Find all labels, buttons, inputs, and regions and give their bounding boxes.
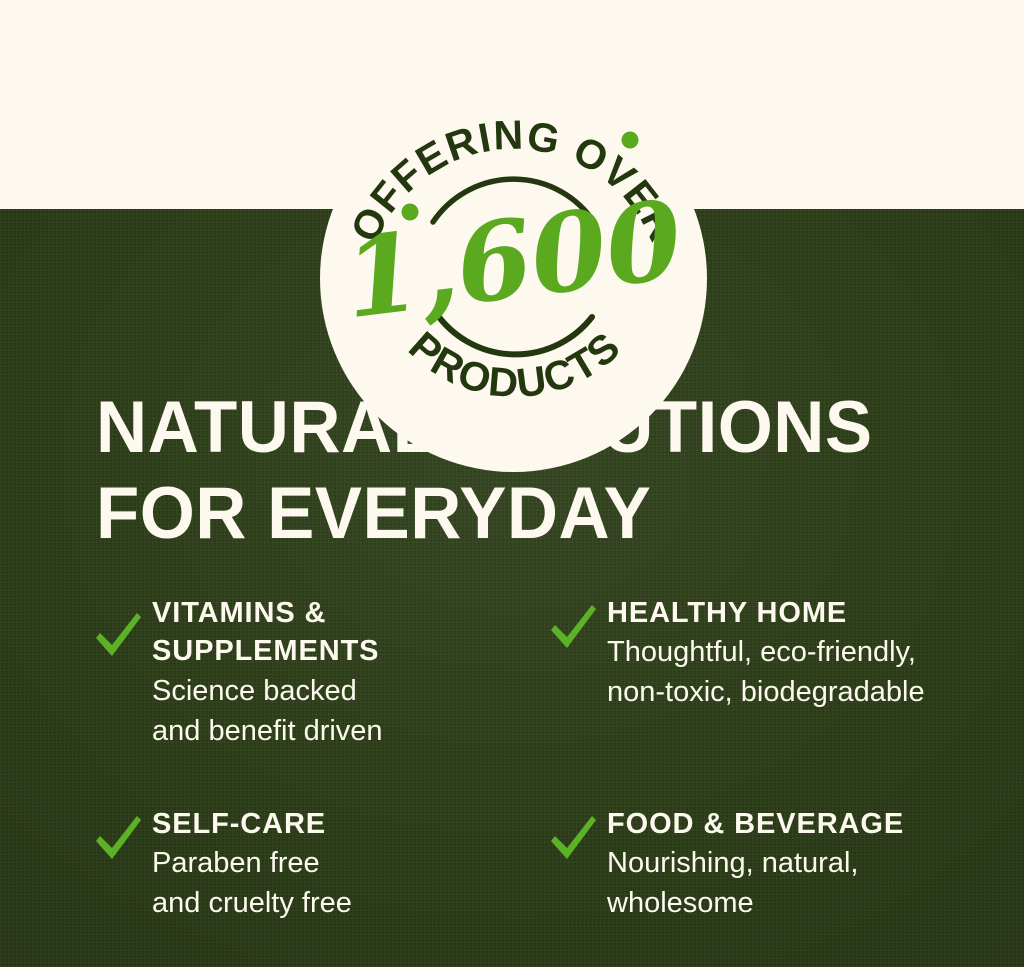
badge-separator-dot-right xyxy=(622,132,639,149)
check-icon xyxy=(92,610,144,662)
headline-line-2: FOR EVERYDAY xyxy=(96,471,950,557)
feature-text-block: SELF-CARE Paraben free and cruelty free xyxy=(152,803,352,923)
promo-poster: OFFERING OVER PRODUCTS 1,600 NATURAL SOL… xyxy=(0,0,1024,967)
feature-item-food-beverage: FOOD & BEVERAGE Nourishing, natural, who… xyxy=(547,803,992,923)
feature-description-line: wholesome xyxy=(607,883,904,923)
feature-text-block: FOOD & BEVERAGE Nourishing, natural, who… xyxy=(607,803,904,923)
feature-text-block: VITAMINS & SUPPLEMENTS Science backed an… xyxy=(152,592,547,751)
feature-title-line: FOOD & BEVERAGE xyxy=(607,808,904,840)
feature-list: VITAMINS & SUPPLEMENTS Science backed an… xyxy=(92,592,992,923)
feature-title: FOOD & BEVERAGE xyxy=(607,805,904,843)
feature-title-line: VITAMINS & xyxy=(152,597,326,629)
feature-text-block: HEALTHY HOME Thoughtful, eco-friendly, n… xyxy=(607,592,925,712)
feature-item-healthy-home: HEALTHY HOME Thoughtful, eco-friendly, n… xyxy=(547,592,992,751)
feature-title-line: SELF-CARE xyxy=(152,808,326,840)
feature-description-line: and benefit driven xyxy=(152,711,547,751)
page-title: NATURAL SOLUTIONS FOR EVERYDAY xyxy=(96,385,950,557)
feature-item-vitamins-supplements: VITAMINS & SUPPLEMENTS Science backed an… xyxy=(92,592,547,751)
check-icon xyxy=(547,602,599,654)
feature-description-line: Nourishing, natural, xyxy=(607,843,904,883)
feature-title: HEALTHY HOME xyxy=(607,594,925,632)
feature-description-line: and cruelty free xyxy=(152,883,352,923)
feature-title-line: HEALTHY HOME xyxy=(607,597,847,629)
feature-item-self-care: SELF-CARE Paraben free and cruelty free xyxy=(92,803,547,923)
feature-description: Paraben free and cruelty free xyxy=(152,843,352,923)
feature-description: Thoughtful, eco-friendly, non-toxic, bio… xyxy=(607,632,925,712)
feature-description-line: Thoughtful, eco-friendly, xyxy=(607,632,925,672)
feature-title: SELF-CARE xyxy=(152,805,352,843)
feature-title-line: SUPPLEMENTS xyxy=(152,635,379,667)
feature-description: Science backed and benefit driven xyxy=(152,671,547,751)
headline-line-1: NATURAL SOLUTIONS xyxy=(96,385,950,471)
feature-description-line: non-toxic, biodegradable xyxy=(607,672,925,712)
feature-description-line: Paraben free xyxy=(152,843,352,883)
check-icon xyxy=(547,813,599,865)
check-icon xyxy=(92,813,144,865)
feature-title: VITAMINS & SUPPLEMENTS xyxy=(152,594,547,671)
feature-description-line: Science backed xyxy=(152,671,547,711)
feature-description: Nourishing, natural, wholesome xyxy=(607,843,904,923)
